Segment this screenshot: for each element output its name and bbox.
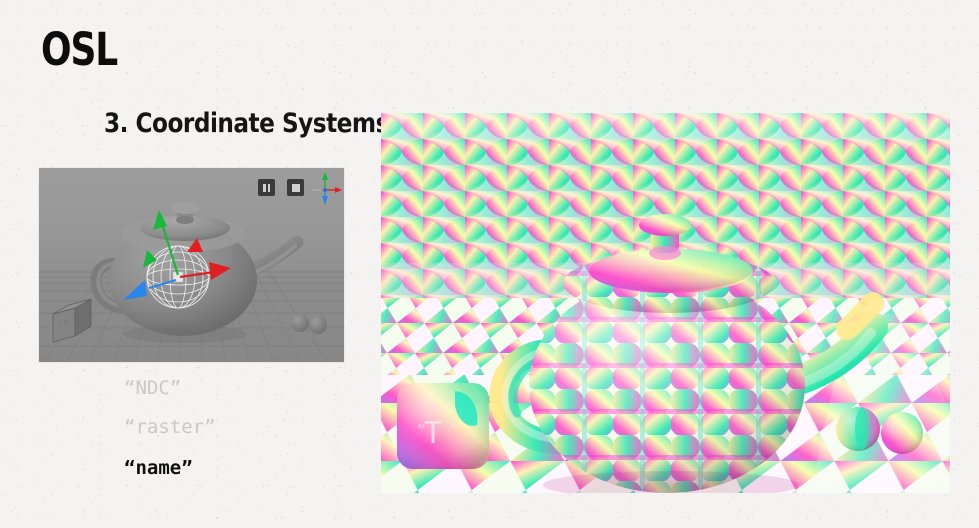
page-title: OSL — [41, 27, 117, 72]
slide-canvas: OSL 3. Coordinate Systems — [0, 0, 979, 528]
section-subtitle: 3. Coordinate Systems — [104, 110, 389, 137]
code-label-name: “name” — [124, 459, 193, 478]
modeling-viewport — [39, 168, 344, 362]
stop-icon[interactable] — [287, 179, 304, 196]
render-scene: T “ ” — [381, 113, 950, 493]
scene-sphere-2 — [309, 316, 327, 334]
code-label-raster: “raster” — [124, 418, 216, 437]
scene-sphere-1 — [291, 314, 309, 332]
viewport-scene — [39, 168, 344, 362]
pause-icon[interactable] — [258, 179, 275, 196]
render-output-image: T “ ” — [381, 113, 950, 493]
render-grain — [381, 113, 950, 493]
code-label-ndc: “NDC” — [124, 379, 181, 398]
